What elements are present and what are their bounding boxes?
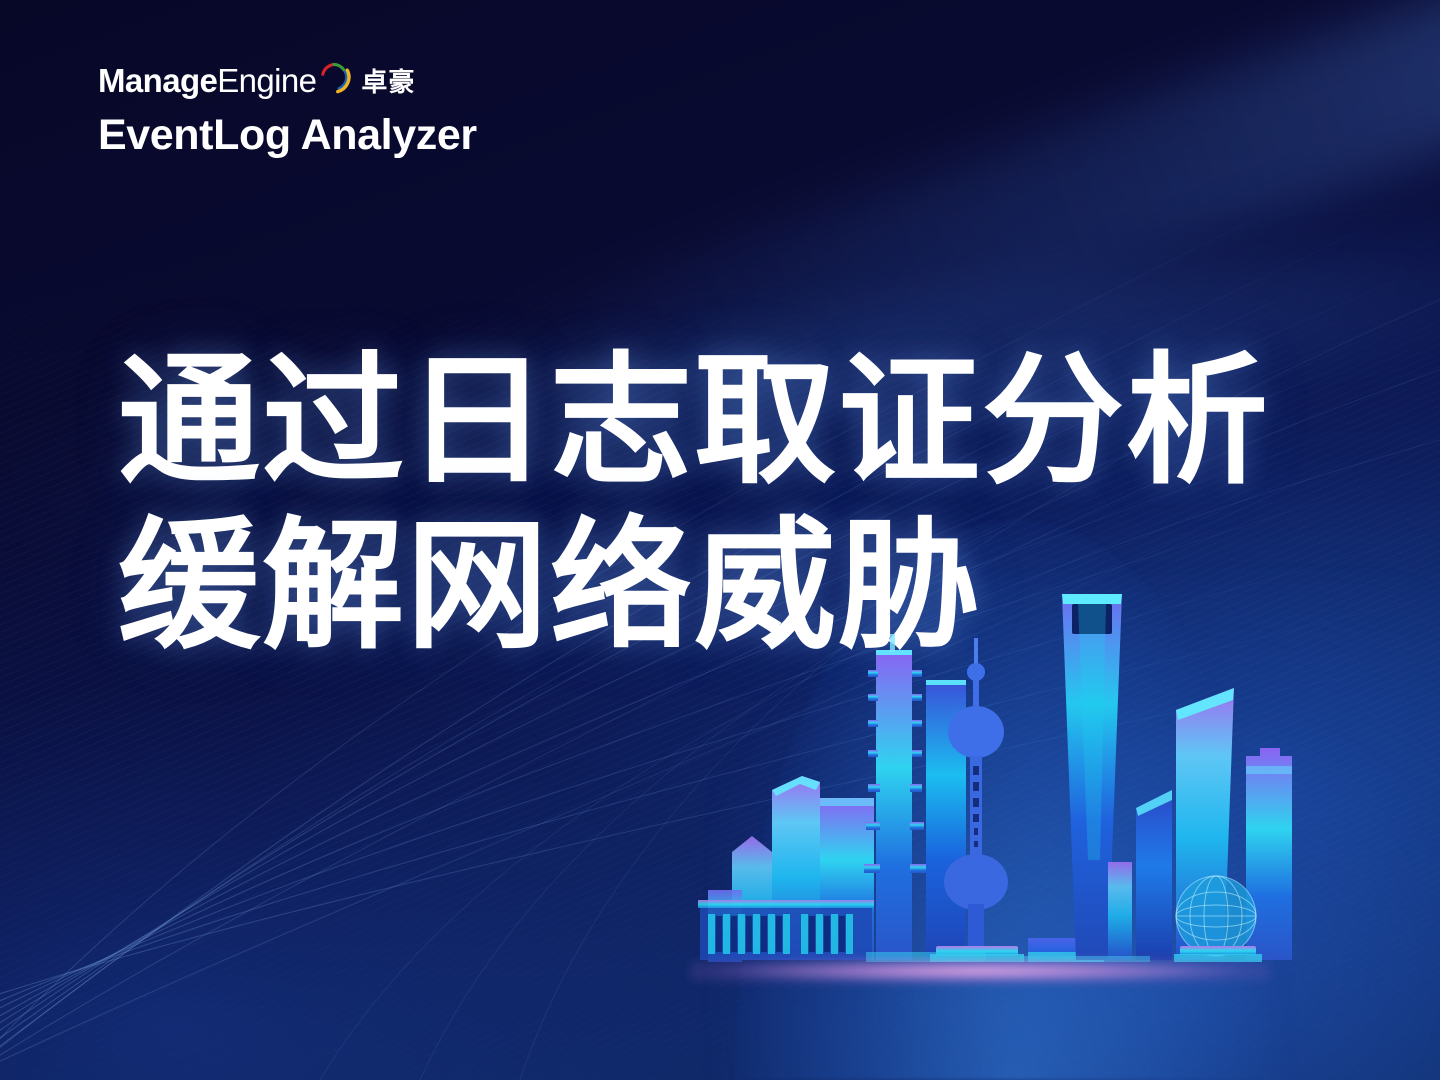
manageengine-light: Engine bbox=[217, 62, 316, 99]
headline-line-1: 通过日志取证分析 bbox=[118, 340, 1270, 505]
manageengine-bold: Manage bbox=[98, 62, 217, 99]
manageengine-lockup: ManageEngine 卓豪 bbox=[98, 58, 477, 102]
city-reflection bbox=[680, 968, 1300, 1080]
manageengine-swoosh-icon bbox=[318, 60, 352, 99]
manageengine-chinese-name: 卓豪 bbox=[361, 62, 415, 99]
shanghai-skyline-illustration bbox=[680, 560, 1300, 1020]
slide-canvas: ManageEngine 卓豪 EventLog Analyzer 通过日志取证… bbox=[0, 0, 1440, 1080]
manageengine-wordmark: ManageEngine bbox=[98, 64, 316, 97]
brand-logo: ManageEngine 卓豪 EventLog Analyzer bbox=[98, 58, 477, 160]
product-name: EventLog Analyzer bbox=[98, 111, 477, 160]
